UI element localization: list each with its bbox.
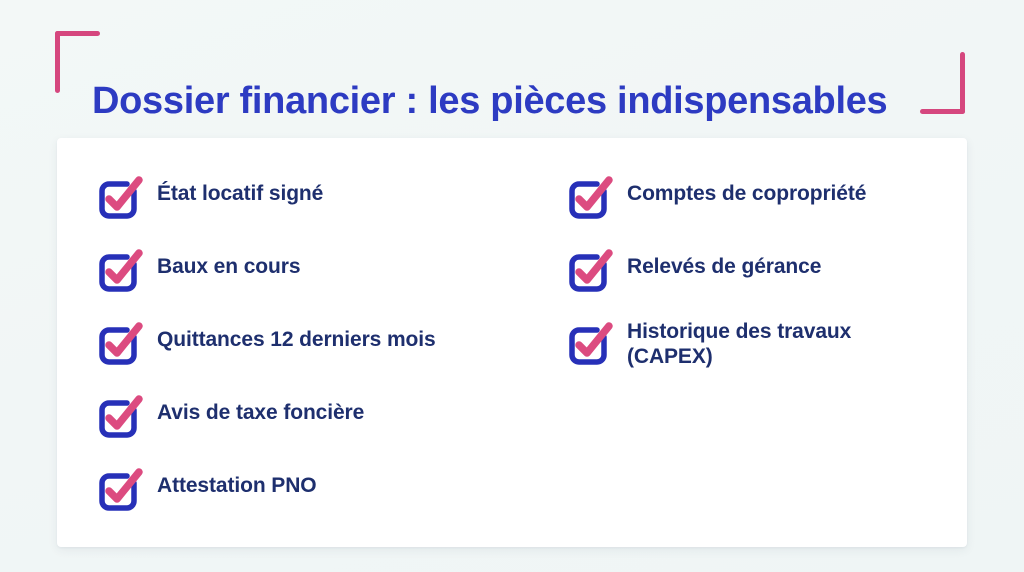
checklist-item-label: État locatif signé (157, 170, 323, 206)
slide-canvas: Dossier financier : les pièces indispens… (0, 0, 1024, 572)
checkbox-checked-icon (564, 171, 616, 223)
bracket-left-horizontal (55, 31, 100, 36)
checkbox-checked-icon (564, 317, 616, 369)
checklist-item: Quittances 12 derniers mois (94, 316, 436, 374)
checklist-item: Comptes de copropriété (564, 170, 866, 228)
checklist-item-label: Quittances 12 derniers mois (157, 316, 436, 352)
checkbox-checked-icon (564, 244, 616, 296)
checkbox-checked-icon (94, 171, 146, 223)
checklist-item-label: Comptes de copropriété (627, 170, 866, 206)
checkbox-checked-icon (94, 463, 146, 515)
checklist-item-label: Historique des travaux (CAPEX) (627, 316, 851, 369)
checklist-item: État locatif signé (94, 170, 323, 228)
title-area: Dossier financier : les pièces indispens… (0, 0, 1024, 138)
checklist-item-label: Avis de taxe foncière (157, 389, 364, 425)
checklist-card: État locatif signé Baux en cours (57, 138, 967, 547)
checkbox-checked-icon (94, 244, 146, 296)
bracket-left-vertical (55, 31, 60, 93)
checklist-item: Historique des travaux (CAPEX) (564, 316, 851, 374)
checklist-item-label: Baux en cours (157, 243, 300, 279)
checklist-item: Avis de taxe foncière (94, 389, 364, 447)
bracket-right-vertical (960, 52, 965, 114)
checkbox-checked-icon (94, 390, 146, 442)
checkbox-checked-icon (94, 317, 146, 369)
checklist-item: Attestation PNO (94, 462, 317, 520)
checklist-item: Relevés de gérance (564, 243, 821, 301)
checklist-item: Baux en cours (94, 243, 300, 301)
checklist-item-label: Relevés de gérance (627, 243, 821, 279)
page-title: Dossier financier : les pièces indispens… (92, 76, 952, 126)
checklist-item-label: Attestation PNO (157, 462, 317, 498)
